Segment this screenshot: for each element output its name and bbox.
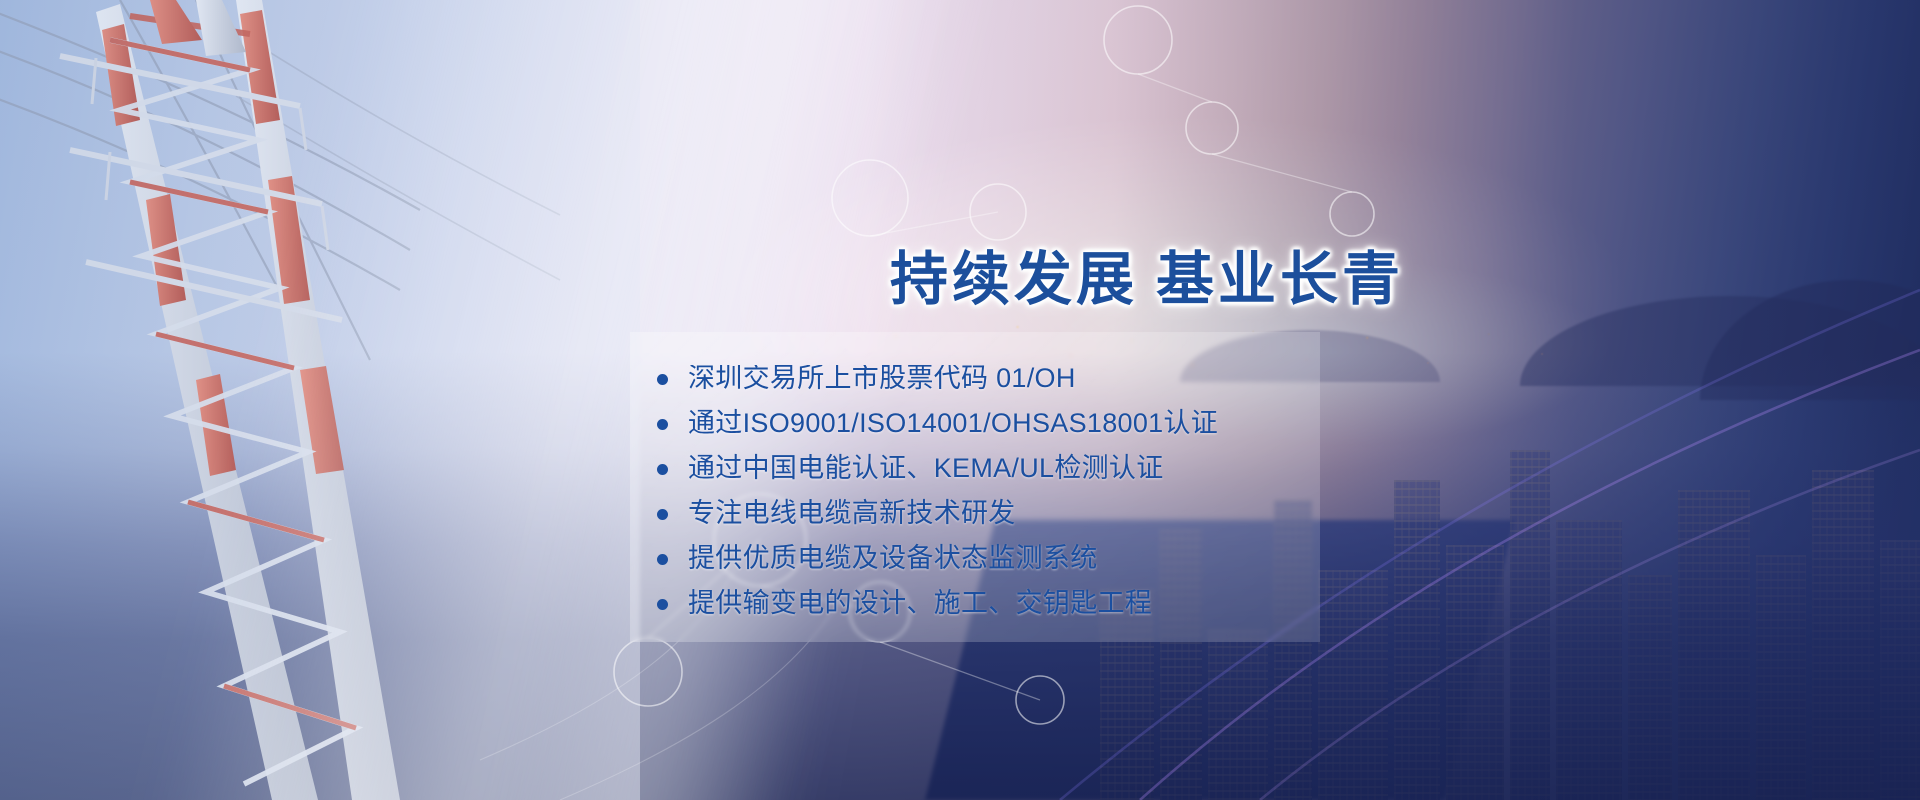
list-item: 提供优质电缆及设备状态监测系统 — [648, 545, 1348, 572]
list-item-label: 通过中国电能认证、KEMA/UL检测认证 — [688, 453, 1164, 483]
headline-part-1: 持续发展 — [890, 247, 1138, 312]
bullet-dot-icon — [657, 509, 668, 520]
banner-stage: 持续发展基业长青 深圳交易所上市股票代码 01/OH 通过ISO9001/ISO… — [0, 0, 1920, 800]
bullet-dot-icon — [657, 374, 668, 385]
list-item-label: 提供输变电的设计、施工、交钥匙工程 — [688, 588, 1152, 618]
bullet-dot-icon — [657, 554, 668, 565]
feature-list: 深圳交易所上市股票代码 01/OH 通过ISO9001/ISO14001/OHS… — [648, 365, 1348, 635]
list-item: 通过中国电能认证、KEMA/UL检测认证 — [648, 455, 1348, 482]
list-item: 深圳交易所上市股票代码 01/OH — [648, 365, 1348, 392]
banner-content: 持续发展基业长青 深圳交易所上市股票代码 01/OH 通过ISO9001/ISO… — [0, 0, 1920, 800]
headline: 持续发展基业长青 — [890, 232, 1404, 316]
list-item: 通过ISO9001/ISO14001/OHSAS18001认证 — [648, 410, 1348, 437]
list-item-label: 通过ISO9001/ISO14001/OHSAS18001认证 — [688, 408, 1218, 438]
headline-part-2: 基业长青 — [1156, 247, 1404, 312]
list-item-label: 深圳交易所上市股票代码 01/OH — [688, 365, 1076, 392]
list-item-label: 专注电线电缆高新技术研发 — [688, 498, 1016, 528]
list-item: 提供输变电的设计、施工、交钥匙工程 — [648, 590, 1348, 617]
list-item-label: 提供优质电缆及设备状态监测系统 — [688, 543, 1098, 573]
bullet-dot-icon — [657, 464, 668, 475]
bullet-dot-icon — [657, 419, 668, 430]
list-item: 专注电线电缆高新技术研发 — [648, 500, 1348, 527]
bullet-dot-icon — [657, 599, 668, 610]
